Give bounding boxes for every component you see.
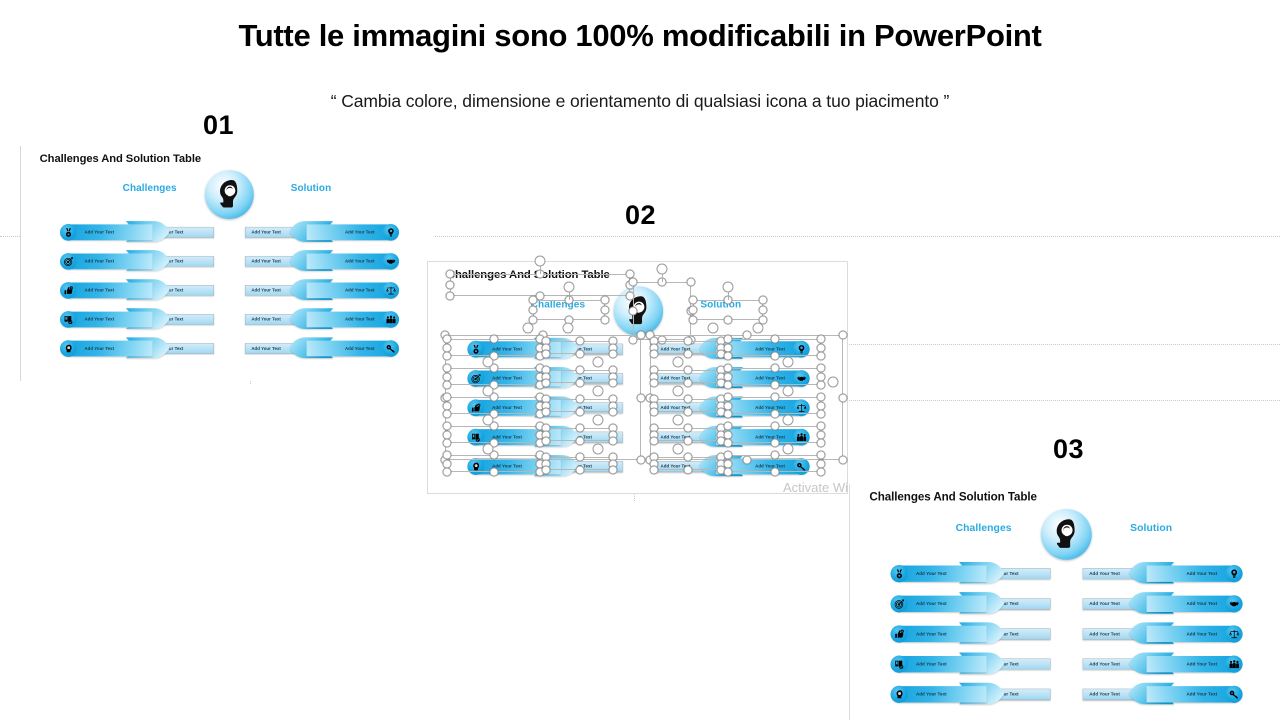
cell-text: Add Your Text [1089, 571, 1120, 576]
row-capsule[interactable]: Add Your Text [891, 626, 987, 642]
table-row[interactable]: Add Your TextAdd Your Text [468, 457, 623, 476]
row-capsule[interactable]: Add Your Text [716, 459, 809, 475]
diagram-title: Challenges And Solution Table [447, 268, 610, 281]
row-capsule[interactable]: Add Your Text [468, 429, 561, 445]
book-check-icon [60, 311, 77, 328]
cell-text: Add Your Text [755, 405, 785, 410]
table-row[interactable]: Add Your TextAdd Your Text [245, 310, 399, 329]
lightbulb-icon [1225, 565, 1242, 582]
table-row[interactable]: Add Your TextAdd Your Text [60, 252, 214, 271]
cell-text: Add Your Text [1089, 601, 1120, 606]
medal-icon [467, 341, 484, 358]
column-header-challenges: Challenges [956, 522, 1012, 534]
medal-icon [891, 565, 908, 582]
cell-text: Add Your Text [755, 347, 785, 352]
row-capsule[interactable]: Add Your Text [716, 429, 809, 445]
diagram-02: Challenges And Solution TableChallengesS… [428, 262, 847, 497]
cell-text: Add Your Text [84, 259, 114, 264]
head-brain-spiral-icon [1041, 509, 1092, 560]
cell-text: Add Your Text [916, 662, 947, 667]
row-capsule[interactable]: Add Your Text [60, 283, 152, 299]
diagram-01: Challenges And Solution TableChallengesS… [21, 146, 436, 378]
table-row[interactable]: Add Your TextAdd Your Text [468, 428, 623, 447]
cell-text: Add Your Text [755, 464, 785, 469]
table-row[interactable]: Add Your TextAdd Your Text [245, 339, 399, 358]
diagram-title: Challenges And Solution Table [40, 152, 201, 165]
cell-text: Add Your Text [1186, 631, 1217, 636]
medal-icon [60, 224, 77, 241]
row-capsule[interactable]: Add Your Text [716, 341, 809, 357]
table-row[interactable]: Add Your TextAdd Your Text [60, 281, 214, 300]
row-capsule[interactable]: Add Your Text [468, 459, 561, 475]
row-capsule[interactable]: Add Your Text [1147, 686, 1243, 702]
row-capsule[interactable]: Add Your Text [60, 253, 152, 269]
row-capsule[interactable]: Add Your Text [891, 565, 987, 581]
table-row[interactable]: Add Your TextAdd Your Text [245, 223, 399, 242]
cell-text: Add Your Text [492, 405, 522, 410]
head-idea-icon [467, 458, 484, 475]
table-row[interactable]: Add Your TextAdd Your Text [60, 339, 214, 358]
table-row[interactable]: Add Your TextAdd Your Text [891, 564, 1050, 584]
lightbulb-icon [793, 341, 810, 358]
cell-text: Add Your Text [345, 346, 375, 351]
step-number-01: 01 [203, 110, 234, 141]
target-icon [891, 595, 908, 612]
team-group-icon [793, 429, 810, 446]
row-capsule[interactable]: Add Your Text [1147, 565, 1243, 581]
cell-text: Add Your Text [345, 288, 375, 293]
table-row[interactable]: Add Your TextAdd Your Text [654, 428, 809, 447]
column-header-solution: Solution [700, 299, 741, 311]
step-number-02: 02 [625, 200, 656, 231]
cell-text: Add Your Text [251, 259, 281, 264]
cell-text: Add Your Text [661, 405, 691, 410]
table-row[interactable]: Add Your TextAdd Your Text [245, 281, 399, 300]
lightbulb-icon [382, 224, 399, 241]
cell-text: Add Your Text [661, 376, 691, 381]
table-row[interactable]: Add Your TextAdd Your Text [468, 340, 623, 359]
preview-panel-01[interactable]: Challenges And Solution TableChallengesS… [20, 146, 435, 381]
column-header-challenges: Challenges [123, 183, 177, 195]
thumbs-up-icon [467, 399, 484, 416]
diagram-title: Challenges And Solution Table [869, 490, 1037, 503]
table-row[interactable]: Add Your TextAdd Your Text [891, 624, 1050, 644]
table-row[interactable]: Add Your TextAdd Your Text [468, 369, 623, 388]
row-capsule[interactable]: Add Your Text [60, 341, 152, 357]
row-capsule[interactable]: Add Your Text [891, 596, 987, 612]
table-row[interactable]: Add Your TextAdd Your Text [891, 594, 1050, 614]
page-subtitle: “ Cambia colore, dimensione e orientamen… [0, 91, 1280, 112]
thumbs-up-icon [60, 282, 77, 299]
cell-text: Add Your Text [492, 347, 522, 352]
thumbs-up-icon [891, 625, 908, 642]
head-brain-spiral-icon [205, 170, 254, 219]
cell-text: Add Your Text [916, 601, 947, 606]
column-header-solution: Solution [291, 183, 331, 195]
cell-text: Add Your Text [345, 230, 375, 235]
cell-text: Add Your Text [251, 288, 281, 293]
cell-text: Add Your Text [492, 376, 522, 381]
head-idea-icon [891, 686, 908, 703]
table-row[interactable]: Add Your TextAdd Your Text [654, 340, 809, 359]
cell-text: Add Your Text [916, 571, 947, 576]
head-idea-icon [60, 340, 77, 357]
row-capsule[interactable]: Add Your Text [60, 312, 152, 328]
table-row[interactable]: Add Your TextAdd Your Text [891, 654, 1050, 674]
table-row[interactable]: Add Your TextAdd Your Text [1083, 654, 1242, 674]
row-capsule[interactable]: Add Your Text [1147, 596, 1243, 612]
table-row[interactable]: Add Your TextAdd Your Text [1083, 564, 1242, 584]
head-brain-spiral-icon [614, 286, 663, 335]
row-capsule[interactable]: Add Your Text [60, 224, 152, 240]
table-row[interactable]: Add Your TextAdd Your Text [654, 457, 809, 476]
row-capsule[interactable]: Add Your Text [891, 656, 987, 672]
scales-icon [382, 282, 399, 299]
table-row[interactable]: Add Your TextAdd Your Text [1083, 624, 1242, 644]
cell-text: Add Your Text [661, 347, 691, 352]
table-row[interactable]: Add Your TextAdd Your Text [1083, 684, 1242, 704]
row-capsule[interactable]: Add Your Text [468, 371, 561, 387]
cell-text: Add Your Text [916, 692, 947, 697]
row-capsule[interactable]: Add Your Text [891, 686, 987, 702]
table-row[interactable]: Add Your TextAdd Your Text [654, 398, 809, 417]
row-capsule[interactable]: Add Your Text [716, 371, 809, 387]
row-capsule[interactable]: Add Your Text [468, 400, 561, 416]
cell-text: Add Your Text [661, 435, 691, 440]
table-row[interactable]: Add Your TextAdd Your Text [60, 310, 214, 329]
table-row[interactable]: Add Your TextAdd Your Text [654, 369, 809, 388]
cell-text: Add Your Text [916, 631, 947, 636]
cell-text: Add Your Text [345, 317, 375, 322]
cell-text: Add Your Text [84, 288, 114, 293]
book-check-icon [891, 656, 908, 673]
row-capsule[interactable]: Add Your Text [307, 253, 399, 269]
diagram-03: Challenges And Solution TableChallengesS… [850, 484, 1280, 725]
cell-text: Add Your Text [1186, 662, 1217, 667]
cell-text: Add Your Text [84, 230, 114, 235]
row-capsule[interactable]: Add Your Text [307, 312, 399, 328]
row-capsule[interactable]: Add Your Text [716, 400, 809, 416]
table-row[interactable]: Add Your TextAdd Your Text [60, 223, 214, 242]
preview-panel-03[interactable]: Challenges And Solution TableChallengesS… [849, 484, 1280, 720]
column-header-challenges: Challenges [531, 299, 585, 311]
row-capsule[interactable]: Add Your Text [1147, 626, 1243, 642]
cell-text: Add Your Text [1186, 601, 1217, 606]
cell-text: Add Your Text [345, 259, 375, 264]
column-header-solution: Solution [1130, 522, 1172, 534]
row-capsule[interactable]: Add Your Text [1147, 656, 1243, 672]
cell-text: Add Your Text [84, 346, 114, 351]
team-group-icon [382, 311, 399, 328]
cell-text: Add Your Text [755, 376, 785, 381]
team-group-icon [1225, 656, 1242, 673]
cell-text: Add Your Text [1186, 571, 1217, 576]
key-icon [382, 340, 399, 357]
cell-text: Add Your Text [1089, 662, 1120, 667]
key-icon [1225, 686, 1242, 703]
table-row[interactable]: Add Your TextAdd Your Text [891, 684, 1050, 704]
table-row[interactable]: Add Your TextAdd Your Text [245, 252, 399, 271]
row-capsule[interactable]: Add Your Text [307, 283, 399, 299]
table-row[interactable]: Add Your TextAdd Your Text [468, 398, 623, 417]
cell-text: Add Your Text [1089, 631, 1120, 636]
cell-text: Add Your Text [661, 464, 691, 469]
handshake-icon [793, 370, 810, 387]
cell-text: Add Your Text [492, 435, 522, 440]
scales-icon [793, 399, 810, 416]
cell-text: Add Your Text [1186, 692, 1217, 697]
target-icon [467, 370, 484, 387]
cell-text: Add Your Text [84, 317, 114, 322]
book-check-icon [467, 429, 484, 446]
cell-text: Add Your Text [1089, 692, 1120, 697]
step-number-03: 03 [1053, 434, 1084, 465]
row-capsule[interactable]: Add Your Text [468, 341, 561, 357]
table-row[interactable]: Add Your TextAdd Your Text [1083, 594, 1242, 614]
handshake-icon [382, 253, 399, 270]
handshake-icon [1225, 595, 1242, 612]
cell-text: Add Your Text [251, 317, 281, 322]
row-capsule[interactable]: Add Your Text [307, 224, 399, 240]
preview-panel-02-selected[interactable]: Challenges And Solution TableChallengesS… [427, 261, 848, 494]
scales-icon [1225, 625, 1242, 642]
cell-text: Add Your Text [251, 346, 281, 351]
row-capsule[interactable]: Add Your Text [307, 341, 399, 357]
cell-text: Add Your Text [251, 230, 281, 235]
key-icon [793, 458, 810, 475]
cell-text: Add Your Text [755, 435, 785, 440]
target-icon [60, 253, 77, 270]
cell-text: Add Your Text [492, 464, 522, 469]
page-title: Tutte le immagini sono 100% modificabili… [0, 18, 1280, 54]
activate-windows-watermark-02: Activate Wi [783, 480, 848, 495]
